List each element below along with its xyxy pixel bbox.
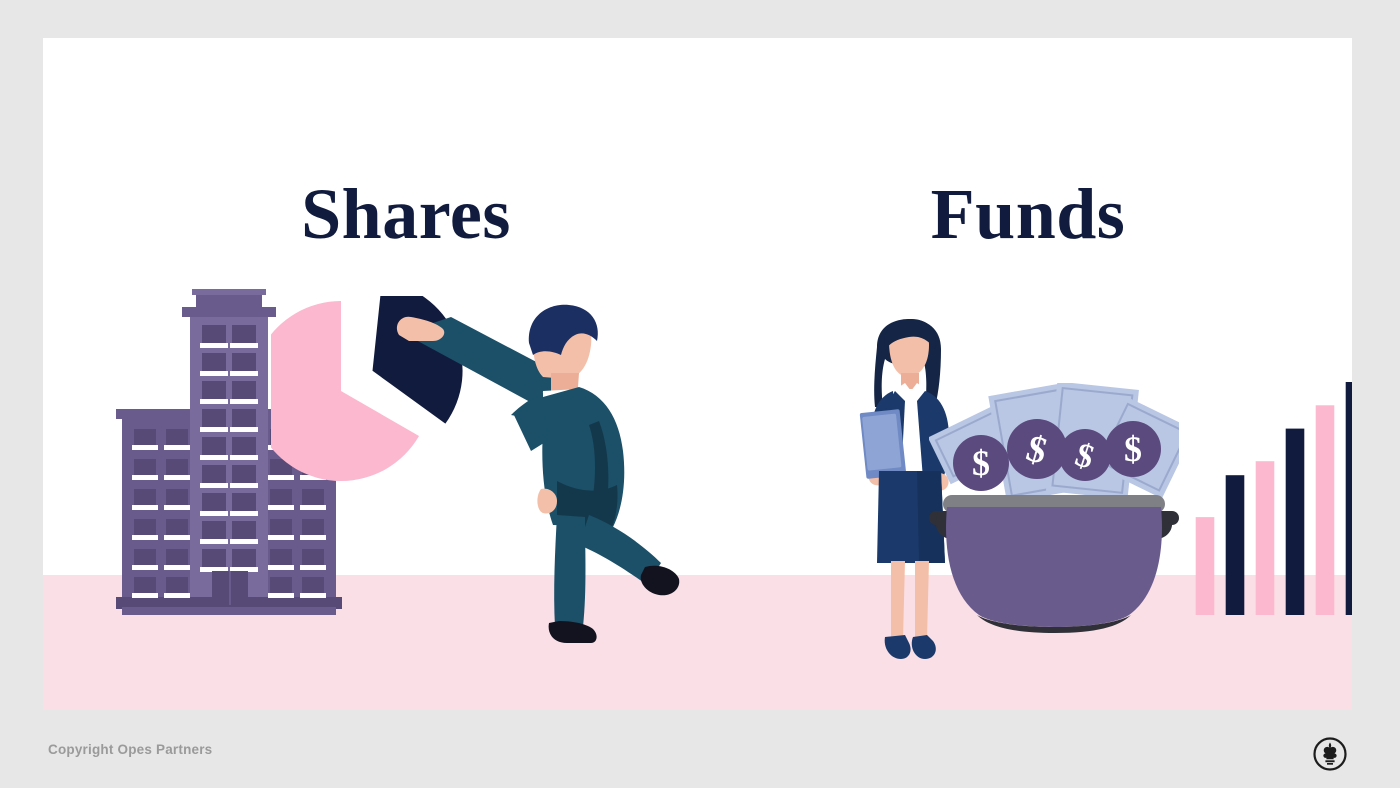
businessman-icon xyxy=(393,301,723,666)
bar-chart-illustration xyxy=(1190,382,1352,615)
slide-stage: Shares xyxy=(0,0,1400,788)
bar-series xyxy=(1196,382,1352,615)
svg-text:$: $ xyxy=(972,443,990,483)
copyright-text: Copyright Opes Partners xyxy=(48,742,212,757)
businessman-illustration xyxy=(393,301,723,666)
bar-chart-icon xyxy=(1190,382,1352,615)
fleur-de-lis-icon xyxy=(1313,737,1347,771)
bar-3 xyxy=(1256,461,1275,615)
money-pot-illustration: $ $ $ $ xyxy=(929,383,1179,638)
bar-2 xyxy=(1226,475,1245,615)
heading-funds: Funds xyxy=(883,178,1173,250)
slide-canvas: Shares xyxy=(43,38,1352,710)
heading-shares: Shares xyxy=(261,178,551,250)
opes-fleur-de-lis-logo xyxy=(1313,737,1347,771)
pot-of-money-icon: $ $ $ $ xyxy=(929,383,1179,638)
svg-text:$: $ xyxy=(1124,429,1142,469)
bar-5 xyxy=(1316,405,1335,615)
bar-6 xyxy=(1346,382,1352,615)
bar-4 xyxy=(1286,429,1305,615)
bar-1 xyxy=(1196,517,1215,615)
